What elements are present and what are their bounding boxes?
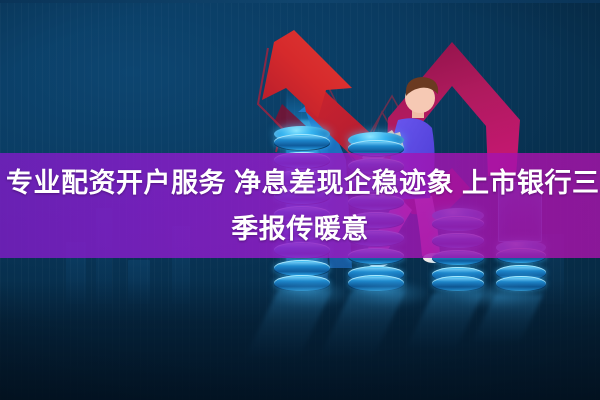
top-edge-line <box>0 0 600 3</box>
headline-line-2: 季报传暖意 <box>6 206 594 252</box>
headline-line-1: 专业配资开户服务 净息差现企稳迹象 上市银行三 <box>6 160 594 206</box>
headline-text-block: 专业配资开户服务 净息差现企稳迹象 上市银行三 季报传暖意 <box>0 160 600 252</box>
banner-image: 专业配资开户服务 净息差现企稳迹象 上市银行三 季报传暖意 <box>0 0 600 400</box>
headline-band: 专业配资开户服务 净息差现企稳迹象 上市银行三 季报传暖意 <box>0 153 600 258</box>
